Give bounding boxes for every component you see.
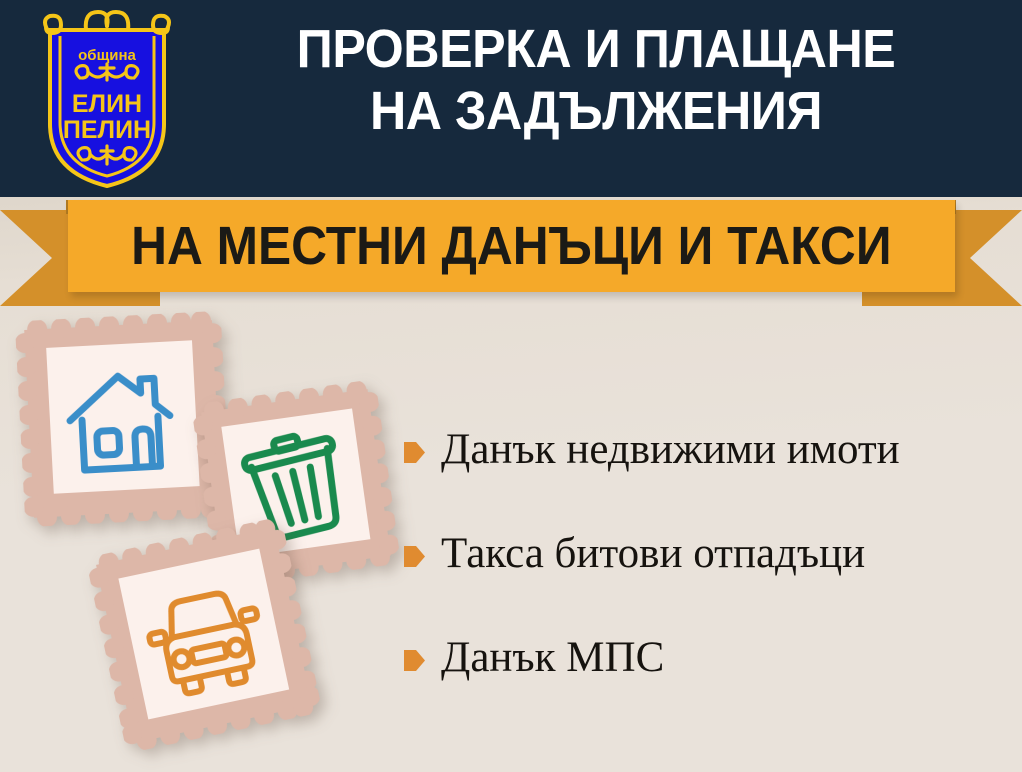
list-item[interactable]: Данък МПС: [404, 632, 1014, 684]
ribbon-banner: НА МЕСТНИ ДАНЪЦИ И ТАКСИ: [0, 196, 1022, 306]
page-title: ПРОВЕРКА И ПЛАЩАНЕ НА ЗАДЪЛЖЕНИЯ: [215, 18, 978, 142]
crest-text-line1: ЕЛИН: [72, 90, 142, 118]
list-item-label: Данък недвижими имоти: [441, 424, 900, 476]
list-item[interactable]: Такса битови отпадъци: [404, 528, 1014, 580]
crest-text-line2: ПЕЛИН: [63, 116, 151, 144]
arrow-right-pentagon-icon: [404, 441, 425, 464]
list-item-label: Данък МПС: [441, 632, 664, 684]
crest-text-top: община: [78, 47, 136, 64]
stamp-vehicle-tax: [85, 516, 322, 753]
tax-type-list: Данък недвижими имоти Такса битови отпад…: [404, 424, 1014, 736]
list-item-label: Такса битови отпадъци: [441, 528, 865, 580]
ribbon-label: НА МЕСТНИ ДАНЪЦИ И ТАКСИ: [131, 217, 891, 275]
poster-canvas: община ЕЛИН ПЕЛИН ПРОВЕРКА И ПЛАЩАН: [0, 0, 1022, 772]
arrow-right-pentagon-icon: [404, 545, 425, 568]
coat-of-arms: община ЕЛИН ПЕЛИН: [28, 4, 186, 192]
arrow-right-pentagon-icon: [404, 649, 425, 672]
list-item[interactable]: Данък недвижими имоти: [404, 424, 1014, 476]
ribbon-main-panel: НА МЕСТНИ ДАНЪЦИ И ТАКСИ: [68, 200, 955, 292]
